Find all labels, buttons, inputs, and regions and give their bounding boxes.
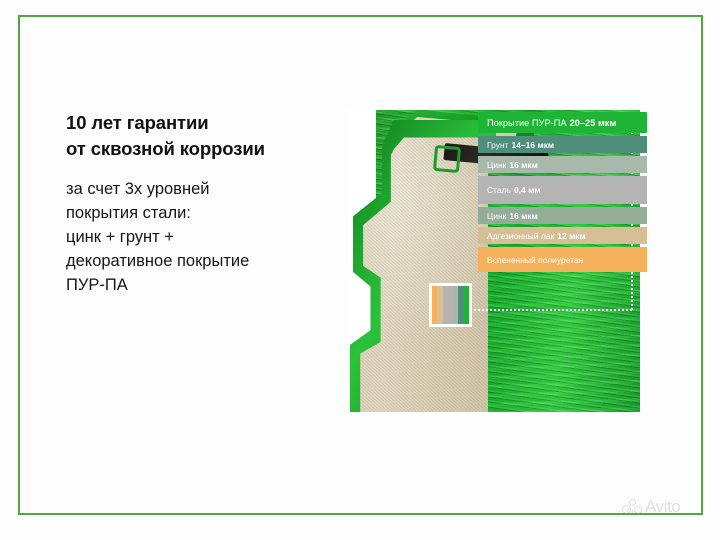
layer-label-0: Покрытие ПУР-ПА bbox=[487, 118, 567, 128]
layer-row-6: Вспененный полиуретан bbox=[478, 247, 647, 272]
layer-label-6: Вспененный полиуретан bbox=[487, 255, 583, 265]
leader-line-horizontal bbox=[474, 309, 632, 311]
layer-value-3: 0,4 мм bbox=[514, 185, 541, 195]
avito-watermark-label: Avito bbox=[645, 497, 681, 517]
layer-label-5: Адгезионный лак bbox=[487, 231, 554, 241]
layer-label-2: Цинк bbox=[487, 160, 506, 170]
body-line-4: декоративное покрытие bbox=[66, 249, 316, 273]
slide-root: 10 лет гарантии от сквозной коррозии за … bbox=[0, 0, 720, 540]
layer-value-1: 14–16 мкм bbox=[512, 140, 555, 150]
layer-row-4: Цинк16 мкм bbox=[478, 207, 647, 224]
layer-label-3: Сталь bbox=[487, 185, 511, 195]
body-line-2: покрытия стали: bbox=[66, 201, 316, 225]
layer-label-4: Цинк bbox=[487, 211, 506, 221]
body-line-5: ПУР-ПА bbox=[66, 273, 316, 297]
layer-row-3: Сталь0,4 мм bbox=[478, 176, 647, 204]
text-column: 10 лет гарантии от сквозной коррозии за … bbox=[66, 110, 316, 297]
layer-label-1: Грунт bbox=[487, 140, 509, 150]
layer-row-5: Адгезионный лак12 мкм bbox=[478, 227, 647, 244]
body-text: за счет 3х уровней покрытия стали: цинк … bbox=[66, 177, 316, 297]
layer-value-5: 12 мкм bbox=[557, 231, 586, 241]
layer-legend: Покрытие ПУР-ПА20–25 мкмГрунт14–16 мкмЦи… bbox=[478, 112, 647, 272]
layer-value-2: 16 мкм bbox=[509, 160, 538, 170]
headline-line-1: 10 лет гарантии bbox=[66, 110, 316, 136]
layer-row-0: Покрытие ПУР-ПА20–25 мкм bbox=[478, 112, 647, 133]
body-line-3: цинк + грунт + bbox=[66, 225, 316, 249]
body-line-1: за счет 3х уровней bbox=[66, 177, 316, 201]
interlock-hook bbox=[433, 145, 461, 173]
avito-watermark: Avito bbox=[622, 497, 681, 517]
page-title: 10 лет гарантии от сквозной коррозии bbox=[66, 110, 316, 163]
swatch-stripe-6 bbox=[464, 286, 469, 324]
headline-line-2: от сквозной коррозии bbox=[66, 136, 316, 162]
layer-value-0: 20–25 мкм bbox=[570, 118, 617, 128]
layer-row-2: Цинк16 мкм bbox=[478, 156, 647, 173]
layer-value-4: 16 мкм bbox=[509, 211, 538, 221]
layer-row-1: Грунт14–16 мкм bbox=[478, 136, 647, 153]
avito-logo-icon bbox=[622, 499, 643, 516]
layer-stripe-swatch bbox=[429, 283, 472, 327]
